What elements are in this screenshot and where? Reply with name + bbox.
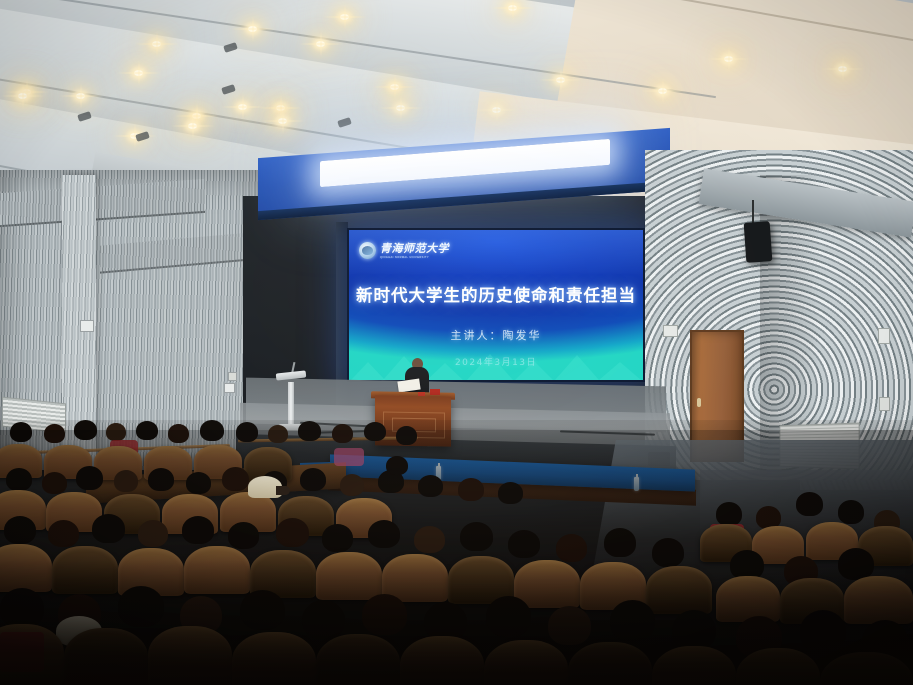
auditorium-seat[interactable] bbox=[844, 576, 913, 624]
door-handle-icon[interactable] bbox=[697, 398, 701, 407]
speaker-cable bbox=[752, 200, 754, 224]
ceiling-downlight bbox=[248, 26, 257, 32]
audience-head bbox=[414, 526, 445, 553]
audience-head bbox=[76, 466, 103, 490]
audience-head bbox=[604, 528, 636, 557]
audience-head bbox=[652, 538, 684, 567]
audience-head bbox=[168, 424, 189, 443]
audience-head bbox=[322, 524, 353, 552]
seat-row-line bbox=[238, 436, 418, 442]
audience-head bbox=[118, 586, 164, 627]
left-wall-outlet-2[interactable] bbox=[228, 372, 237, 381]
audience-head bbox=[6, 468, 32, 491]
ceiling-downlight bbox=[492, 107, 501, 113]
audience-head bbox=[418, 475, 443, 497]
audience-head bbox=[362, 594, 407, 635]
auditorium-seat[interactable] bbox=[484, 640, 568, 685]
audience-head bbox=[240, 590, 285, 630]
audience-head bbox=[92, 514, 125, 543]
led-presentation-screen: 青海师范大学 QINGHAI NORMAL UNIVERSITY 新时代大学生的… bbox=[349, 230, 643, 380]
auditorium-seat[interactable] bbox=[148, 626, 232, 685]
auditorium-seat[interactable] bbox=[316, 634, 400, 685]
left-wall-switch-plate[interactable] bbox=[80, 320, 94, 332]
audience-head bbox=[276, 518, 309, 547]
audience-head bbox=[44, 424, 65, 443]
audience-head bbox=[364, 422, 386, 441]
audience-head bbox=[838, 500, 864, 524]
auditorium-seat[interactable] bbox=[652, 646, 736, 685]
ceiling-downlight bbox=[396, 105, 405, 111]
auditorium-seat[interactable] bbox=[0, 544, 52, 592]
ceiling-downlight bbox=[278, 118, 287, 124]
audience-head bbox=[302, 600, 345, 639]
audience-head bbox=[42, 472, 67, 494]
audience-head bbox=[298, 421, 321, 441]
audience-head bbox=[386, 456, 408, 475]
audience-head bbox=[800, 610, 846, 652]
audience-head bbox=[610, 600, 655, 641]
audience-head bbox=[716, 502, 742, 526]
audience-head bbox=[138, 520, 168, 547]
ceiling-downlight bbox=[556, 77, 565, 83]
audience-head bbox=[332, 424, 353, 443]
audience-head bbox=[48, 520, 79, 547]
auditorium-photo: 青海师范大学 QINGHAI NORMAL UNIVERSITY 新时代大学生的… bbox=[0, 0, 913, 685]
university-emblem-icon bbox=[359, 242, 376, 259]
audience-head bbox=[74, 420, 97, 440]
audience-head bbox=[114, 470, 138, 492]
audience-head bbox=[222, 467, 249, 491]
university-name-en: QINGHAI NORMAL UNIVERSITY bbox=[380, 256, 429, 259]
audience-head bbox=[10, 422, 32, 442]
university-name-cn: 青海师范大学 bbox=[380, 243, 449, 254]
wall-speaker-right-icon bbox=[744, 221, 773, 263]
audience-head bbox=[182, 516, 214, 544]
audience-red-clothing bbox=[0, 632, 44, 672]
audience-head bbox=[498, 482, 523, 504]
audience-head bbox=[228, 522, 259, 549]
audience-head bbox=[106, 423, 126, 441]
ceiling-downlight bbox=[134, 70, 143, 76]
audience-head bbox=[458, 478, 484, 501]
auditorium-seat[interactable] bbox=[52, 546, 118, 594]
auditorium-seat[interactable] bbox=[316, 552, 382, 600]
audience-head bbox=[368, 520, 400, 548]
audience-head bbox=[838, 548, 874, 580]
auditorium-seat[interactable] bbox=[64, 628, 148, 685]
auditorium-seat[interactable] bbox=[646, 566, 712, 614]
ceiling-downlight bbox=[188, 123, 197, 129]
slide-title: 新时代大学生的历史使命和责任担当 bbox=[349, 282, 643, 306]
ceiling-downlight bbox=[838, 66, 847, 72]
audience-head bbox=[300, 468, 326, 491]
audience-head bbox=[136, 421, 158, 440]
auditorium-seat[interactable] bbox=[568, 642, 652, 685]
audience-head bbox=[672, 610, 716, 650]
audience-head bbox=[548, 606, 591, 645]
ceiling-downlight bbox=[340, 14, 349, 20]
slide-date-line: 2024年3月13日 bbox=[349, 355, 643, 368]
audience-head bbox=[186, 472, 211, 494]
audience-head bbox=[460, 522, 493, 551]
slide-university-logo: 青海师范大学 QINGHAI NORMAL UNIVERSITY bbox=[359, 242, 449, 259]
auditorium-seat[interactable] bbox=[716, 576, 780, 622]
audience-area bbox=[0, 420, 913, 685]
ceiling-downlight bbox=[152, 41, 161, 47]
audience-pink-clothing bbox=[334, 448, 364, 466]
audience-head bbox=[0, 588, 44, 628]
ceiling-downlight bbox=[724, 56, 733, 62]
cap-brim bbox=[276, 486, 290, 495]
audience-head bbox=[508, 530, 540, 558]
audience-head bbox=[268, 425, 288, 443]
left-wall-outlet[interactable] bbox=[224, 383, 235, 393]
slide-speaker-line: 主讲人：陶发华 bbox=[349, 327, 643, 343]
auditorium-seat[interactable] bbox=[400, 636, 484, 685]
audience-head bbox=[486, 596, 531, 637]
audience-head bbox=[200, 420, 224, 441]
audience-head bbox=[396, 426, 417, 445]
ceiling-downlight bbox=[18, 93, 27, 99]
auditorium-seat[interactable] bbox=[184, 546, 250, 594]
ceiling-downlight bbox=[76, 93, 85, 99]
ceiling-downlight bbox=[276, 105, 285, 111]
right-wall-switch-plate[interactable] bbox=[663, 325, 678, 337]
podium-item-red bbox=[430, 389, 440, 395]
audience-head bbox=[236, 422, 258, 442]
audience-head bbox=[796, 492, 823, 516]
ceiling-downlight bbox=[390, 84, 399, 90]
audience-head bbox=[556, 534, 587, 562]
ceiling-downlight bbox=[316, 41, 325, 47]
audience-head bbox=[148, 468, 174, 491]
ceiling-downlight bbox=[508, 5, 517, 11]
right-wall-panel[interactable] bbox=[878, 328, 890, 344]
ceiling-downlight bbox=[658, 88, 667, 94]
right-wall-panel-2[interactable] bbox=[879, 397, 890, 411]
audience-head bbox=[4, 516, 36, 544]
audience-head bbox=[340, 474, 364, 496]
ceiling-downlight bbox=[238, 104, 247, 110]
auditorium-seat[interactable] bbox=[232, 632, 316, 685]
